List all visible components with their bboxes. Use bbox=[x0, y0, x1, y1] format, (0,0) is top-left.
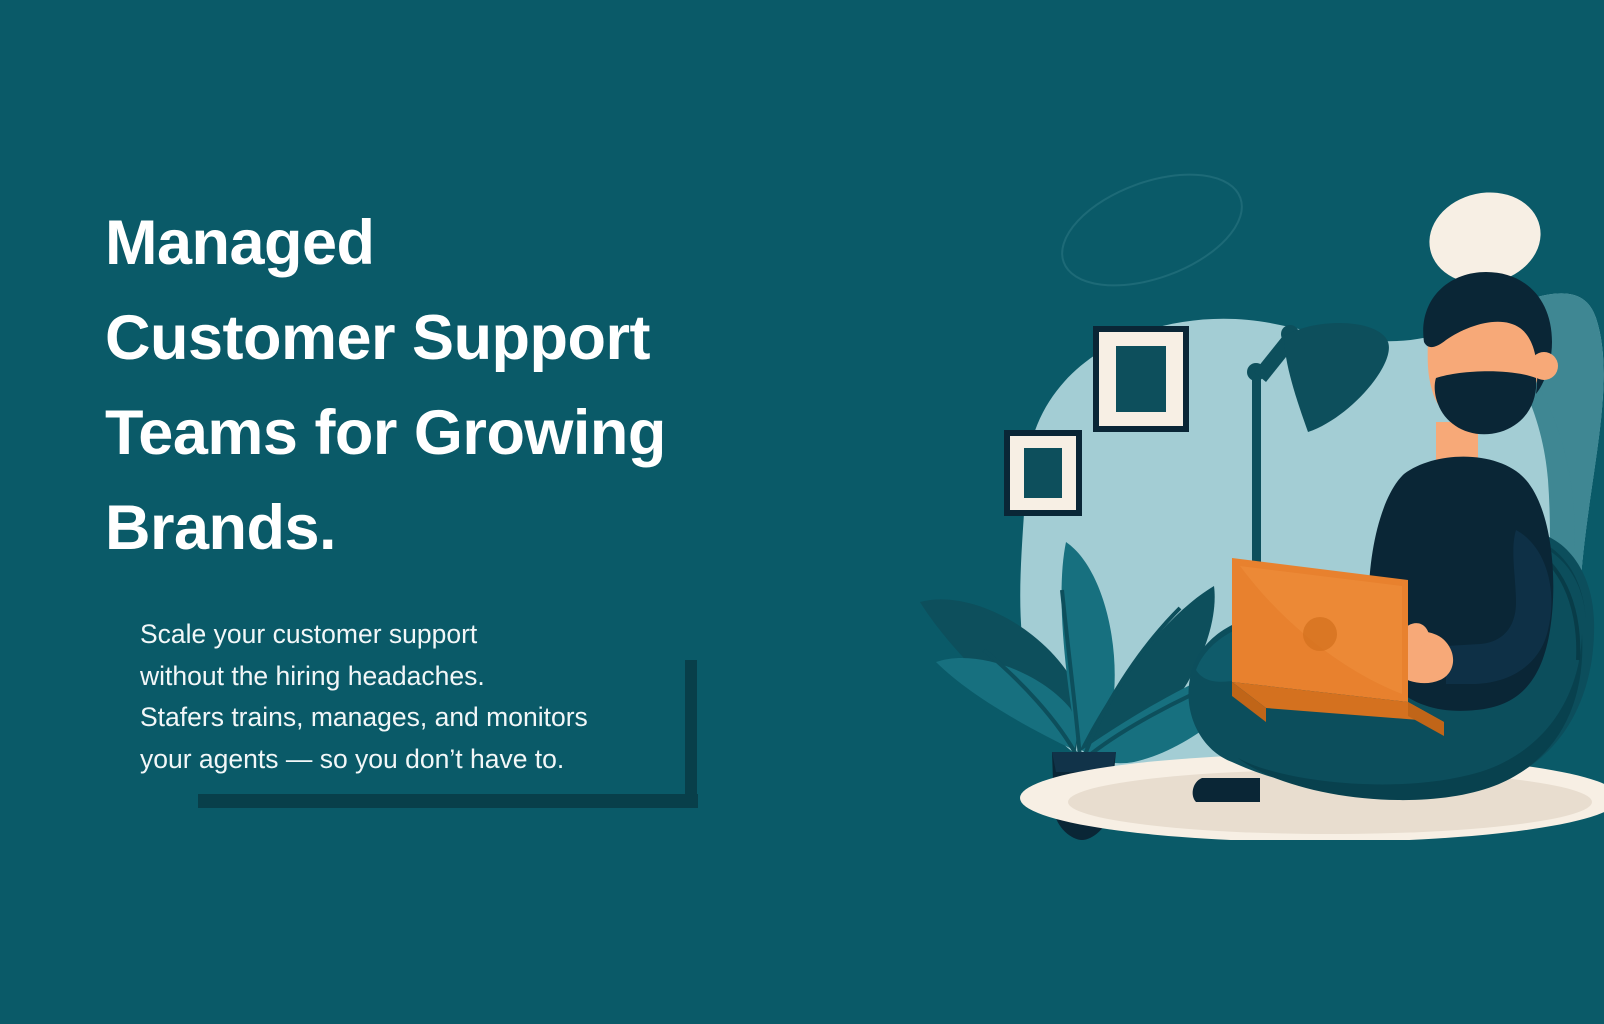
picture-frame-large bbox=[1093, 326, 1189, 432]
hero-copy-column: Managed Customer Support Teams for Growi… bbox=[105, 196, 805, 576]
hero-subtitle: Scale your customer support without the … bbox=[140, 614, 700, 780]
accent-frame-bottom-bar bbox=[198, 794, 698, 808]
outline-ellipse bbox=[1047, 153, 1256, 308]
hero-illustration bbox=[880, 150, 1604, 840]
hero-banner: Managed Customer Support Teams for Growi… bbox=[0, 0, 1604, 1024]
illustration-svg bbox=[880, 150, 1604, 840]
hero-subtitle-block: Scale your customer support without the … bbox=[140, 614, 700, 780]
shoe bbox=[1193, 778, 1260, 802]
picture-frame-small bbox=[1004, 430, 1082, 516]
page-title: Managed Customer Support Teams for Growi… bbox=[105, 196, 805, 576]
